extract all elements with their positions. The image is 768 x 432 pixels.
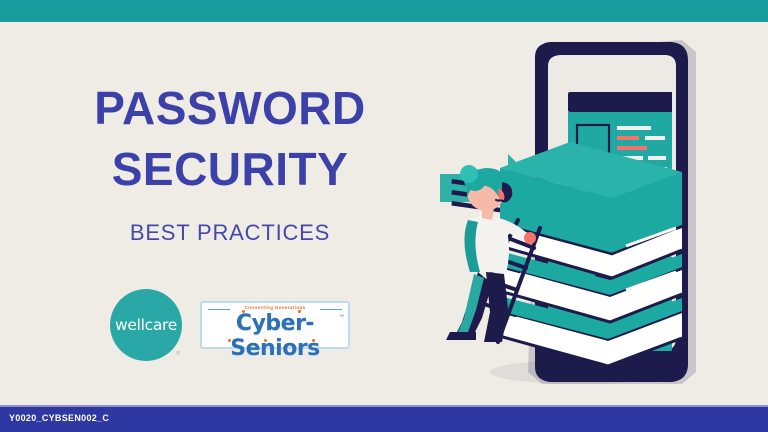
logo-dot-icon	[242, 310, 245, 313]
wellcare-wordmark: wellcare	[115, 316, 177, 334]
wellcare-trademark-icon: ®	[176, 351, 180, 357]
logo-dot-icon	[298, 310, 301, 313]
hero-illustration	[420, 22, 768, 405]
page-subtitle: BEST PRACTICES	[20, 220, 440, 246]
title-line-1: PASSWORD	[20, 78, 440, 139]
cyber-seniors-tagline: Connecting Generations	[202, 305, 348, 310]
logo-dot-icon	[228, 339, 231, 342]
cyber-seniors-wordmark: Cyber-Seniors	[202, 311, 348, 361]
logo-dot-icon	[312, 339, 315, 342]
bottom-accent-bar: Y0020_CYBSEN002_C	[0, 405, 768, 432]
slide-canvas: PASSWORD SECURITY BEST PRACTICES wellcar…	[0, 0, 768, 432]
title-line-2: SECURITY	[20, 139, 440, 200]
book-stack	[490, 142, 682, 384]
cyber-seniors-logo: Connecting Generations Cyber-Seniors ™	[200, 301, 350, 349]
page-title: PASSWORD SECURITY	[20, 78, 440, 199]
logo-dot-icon	[264, 339, 267, 342]
top-accent-bar	[0, 0, 768, 22]
logo-row: wellcare ® Connecting Generations Cyber-…	[20, 288, 440, 362]
compliance-code: Y0020_CYBSEN002_C	[9, 413, 109, 423]
cyber-seniors-trademark-icon: ™	[339, 314, 344, 320]
wellcare-logo: wellcare ®	[110, 289, 182, 361]
